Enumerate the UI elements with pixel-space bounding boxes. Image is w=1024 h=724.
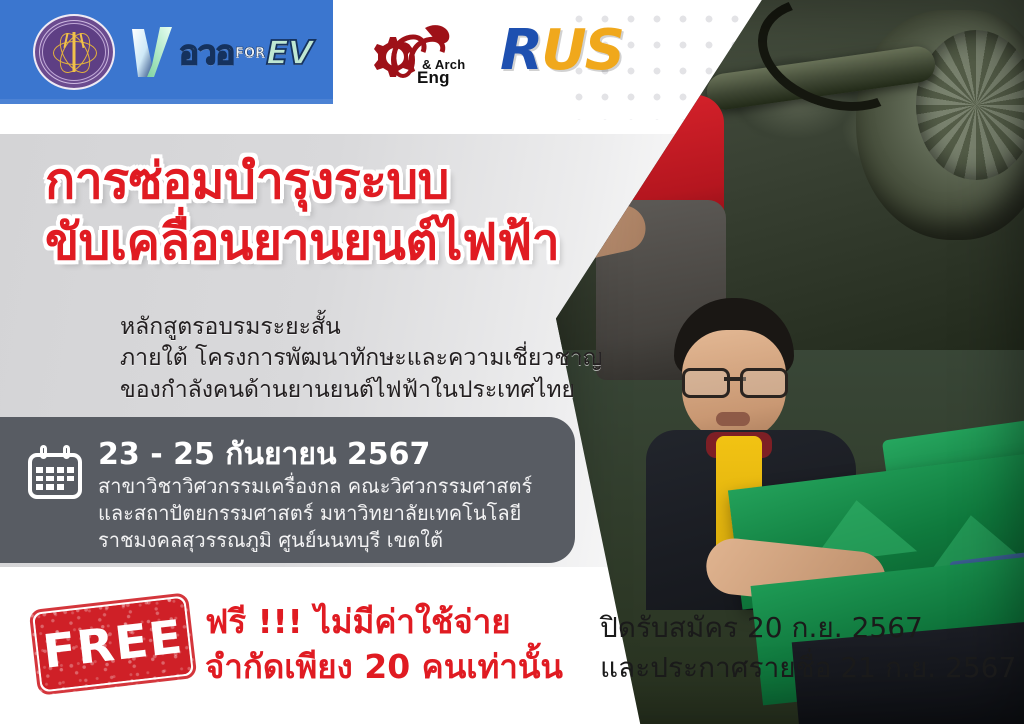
free-stamp-label: FREE [41, 613, 186, 675]
eng-label: Eng [417, 68, 450, 88]
subtitle-line-1: หลักสูตรอบรมระยะสั้น [120, 312, 602, 343]
promo-line-1: ฟรี !!! ไม่มีค่าใช้จ่าย [205, 600, 563, 645]
eng-arch-logo: & Arch Eng [365, 20, 485, 90]
v-check-icon [130, 25, 174, 79]
venue-line-2: และสถาปัตยกรรมศาสตร์ มหาวิทยาลัยเทคโนโลย… [98, 500, 532, 527]
title-line-2: ขับเคลื่อนยานยนต์ไฟฟ้า [45, 213, 559, 272]
rus-letters-us: US [541, 18, 623, 83]
promo-text-block: ฟรี !!! ไม่มีค่าใช้จ่าย จำกัดเพียง 20 คน… [205, 600, 563, 689]
date-venue-text: 23 - 25 กันยายน 2567 สาขาวิชาวิศวกรรมเคร… [98, 437, 532, 553]
date-venue-box: 23 - 25 กันยายน 2567 สาขาวิชาวิศวกรรมเคร… [0, 417, 575, 563]
rus-letter-r: R [500, 18, 541, 83]
deadline-line-2: และประกาศรายชื่อ 21 ก.ย. 2567 [600, 648, 1016, 688]
venue-line-1: สาขาวิชาวิศวกรรมเครื่องกล คณะวิศวกรรมศาส… [98, 473, 532, 500]
subtitle-line-3: ของกำลังคนด้านยานยนต์ไฟฟ้าในประเทศไทย [120, 375, 602, 406]
promo-line-2: จำกัดเพียง 20 คนเท่านั้น [205, 645, 563, 690]
calendar-icon [28, 445, 82, 499]
university-seal-icon [33, 14, 115, 90]
deadline-line-1: ปิดรับสมัคร 20 ก.ย. 2567 [600, 608, 1016, 648]
subtitle-line-2: ภายใต้ โครงการพัฒนาทักษะและความเชี่ยวชาญ [120, 343, 602, 374]
thai-ev-wordmark: อวอFOREV [130, 18, 325, 86]
venue-line-3: ราชมงคลสุวรรณภูมิ ศูนย์นนทบุรี เขตใต้ [98, 527, 532, 554]
poster-root: อวอFOREV & Arch Eng RUS การซ่อมบำรุงระบบ… [0, 0, 1024, 724]
page-title: การซ่อมบำรุงระบบ ขับเคลื่อนยานยนต์ไฟฟ้า [45, 152, 559, 272]
thai-ev-word: อวอFOREV [179, 36, 312, 69]
rus-logo: RUS [500, 20, 623, 82]
event-date: 23 - 25 กันยายน 2567 [98, 437, 532, 473]
event-venue: สาขาวิชาวิศวกรรมเครื่องกล คณะวิศวกรรมศาส… [98, 473, 532, 553]
free-stamp-badge: FREE [29, 592, 198, 696]
deadline-block: ปิดรับสมัคร 20 ก.ย. 2567 และประกาศรายชื่… [600, 608, 1016, 688]
subtitle-block: หลักสูตรอบรมระยะสั้น ภายใต้ โครงการพัฒนา… [120, 312, 602, 406]
title-line-1: การซ่อมบำรุงระบบ [45, 152, 559, 211]
